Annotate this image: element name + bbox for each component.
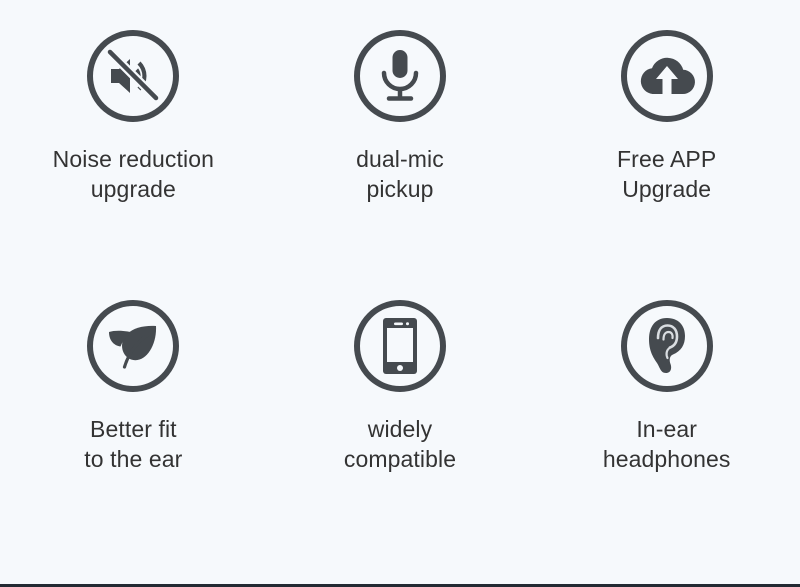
feature-label: Free APP Upgrade bbox=[617, 144, 716, 205]
feature-item-free-app: Free APP Upgrade bbox=[533, 30, 800, 300]
feature-label: dual-mic pickup bbox=[356, 144, 444, 205]
feature-label: In-ear headphones bbox=[603, 414, 731, 475]
feature-grid: Noise reduction upgrade dual-mic pickup … bbox=[0, 0, 800, 584]
feature-item-in-ear: In-ear headphones bbox=[533, 300, 800, 570]
cloud-upload-icon bbox=[621, 30, 713, 122]
ear-icon bbox=[621, 300, 713, 392]
feature-item-dual-mic: dual-mic pickup bbox=[267, 30, 534, 300]
feature-label: Better fit to the ear bbox=[84, 414, 182, 475]
feature-item-better-fit: Better fit to the ear bbox=[0, 300, 267, 570]
smartphone-icon bbox=[354, 300, 446, 392]
feature-item-noise-reduction: Noise reduction upgrade bbox=[0, 30, 267, 300]
mute-speaker-icon bbox=[87, 30, 179, 122]
microphone-icon bbox=[354, 30, 446, 122]
leaf-icon bbox=[87, 300, 179, 392]
feature-item-widely-compatible: widely compatible bbox=[267, 300, 534, 570]
feature-label: widely compatible bbox=[344, 414, 456, 475]
feature-label: Noise reduction upgrade bbox=[53, 144, 214, 205]
